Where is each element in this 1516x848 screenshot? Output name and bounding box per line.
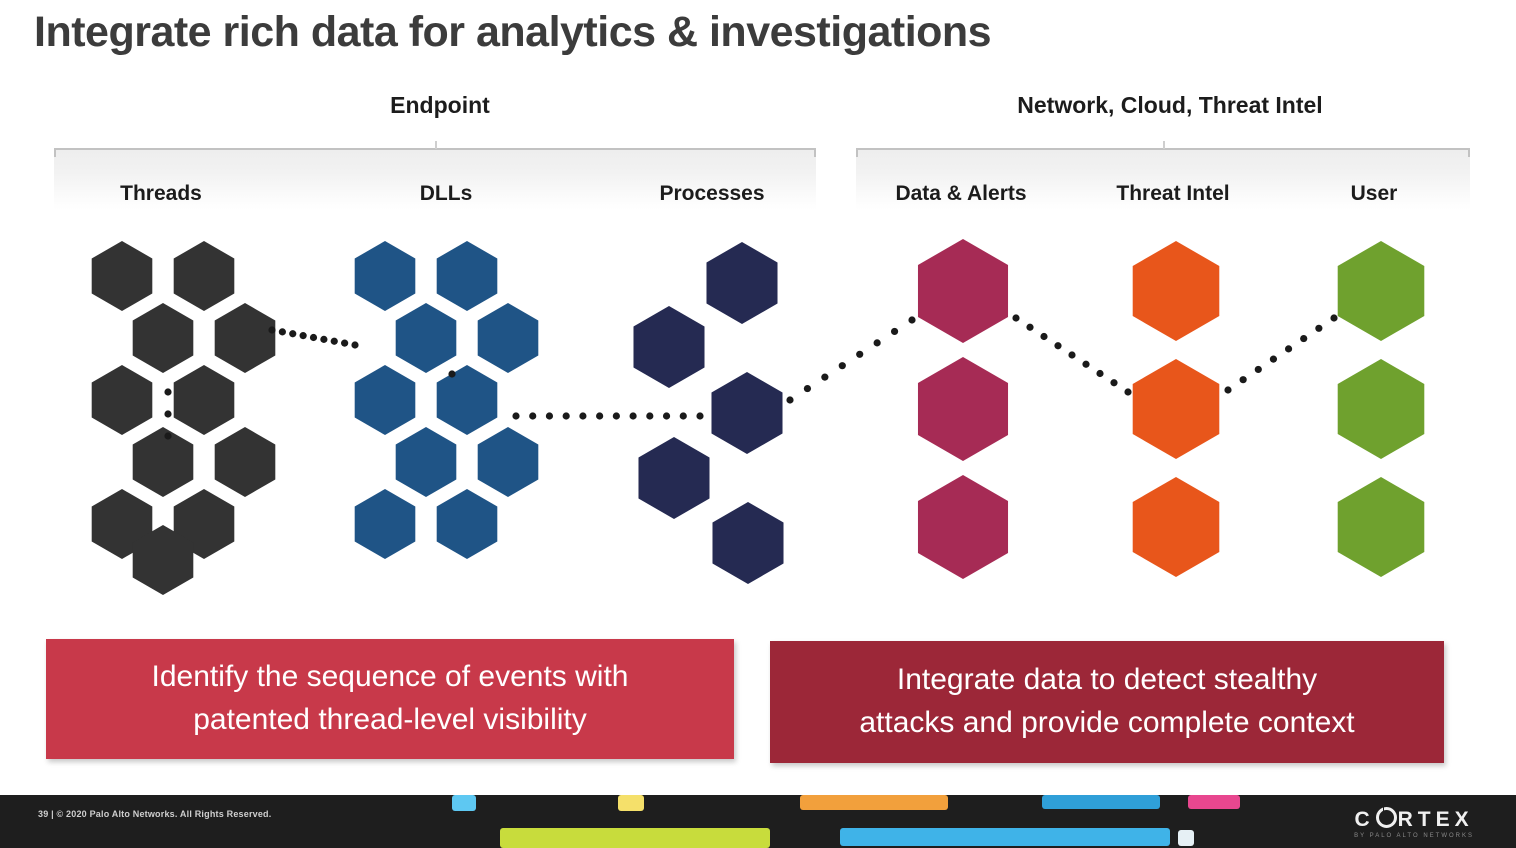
connector-dots-6 xyxy=(1224,314,1337,393)
connector-dot xyxy=(1110,379,1117,386)
connector-dot xyxy=(839,362,846,369)
decorative-bar xyxy=(452,795,476,811)
connector-dot xyxy=(1040,333,1047,340)
connector-dot xyxy=(341,340,348,347)
connector-dot xyxy=(1082,361,1089,368)
connector-dot xyxy=(164,410,171,417)
connector-dot xyxy=(786,396,793,403)
bracket-center-tick-icon xyxy=(435,141,437,149)
group-header-network-cloud-threat-intel: Network, Cloud, Threat Intel xyxy=(960,92,1380,119)
column-label-data-alerts: Data & Alerts xyxy=(866,182,1056,206)
connector-dot xyxy=(629,412,636,419)
connector-dot xyxy=(804,385,811,392)
cortex-letter-c: C xyxy=(1354,808,1374,831)
connector-dots-4 xyxy=(786,316,915,403)
connector-dot xyxy=(563,412,570,419)
hexagon-dlls xyxy=(437,365,498,435)
hexagon-processes xyxy=(706,242,777,324)
connector-dots-3 xyxy=(512,412,703,419)
connector-dot xyxy=(1124,388,1131,395)
hexagon-threads xyxy=(133,303,194,373)
callout-right-line2: attacks and provide complete context xyxy=(859,702,1354,745)
connector-dot xyxy=(579,412,586,419)
footer-bar: 39 | © 2020 Palo Alto Networks. All Righ… xyxy=(0,795,1516,848)
decorative-bar xyxy=(618,795,644,811)
hexagon-threat-intel xyxy=(1133,241,1220,341)
connector-dot xyxy=(300,332,307,339)
footer-copyright: 39 | © 2020 Palo Alto Networks. All Righ… xyxy=(38,809,271,819)
connector-dot xyxy=(1270,356,1277,363)
connector-dot xyxy=(529,412,536,419)
hexagon-dlls xyxy=(355,489,416,559)
hex-cluster-data-alerts xyxy=(918,239,1008,579)
connector-dot xyxy=(1315,325,1322,332)
cortex-logo: CRTEX BY PALO ALTO NETWORKS xyxy=(1354,805,1474,839)
connector-dots-1 xyxy=(268,326,358,348)
connector-dot xyxy=(596,412,603,419)
decorative-bar xyxy=(800,795,948,810)
connector-dot xyxy=(164,432,171,439)
hexagon-dlls xyxy=(478,427,539,497)
connector-dot xyxy=(856,351,863,358)
callout-right: Integrate data to detect stealthy attack… xyxy=(770,641,1444,763)
hexagon-threads xyxy=(92,365,153,435)
hexagon-processes xyxy=(638,437,709,519)
callout-right-line1: Integrate data to detect stealthy xyxy=(859,659,1354,702)
hexagon-threat-intel xyxy=(1133,359,1220,459)
connector-dot xyxy=(512,412,519,419)
connector-dots-0 xyxy=(164,388,171,439)
callout-left-line2: patented thread-level visibility xyxy=(152,699,629,742)
hexagon-data-alerts xyxy=(918,239,1008,343)
hex-cluster-user xyxy=(1338,241,1425,577)
hexagon-processes xyxy=(633,306,704,388)
callout-left: Identify the sequence of events with pat… xyxy=(46,639,734,759)
connector-dot xyxy=(908,316,915,323)
hexagon-processes xyxy=(711,372,782,454)
decorative-bar xyxy=(1042,795,1160,809)
connector-dot xyxy=(1026,324,1033,331)
connector-dot xyxy=(613,412,620,419)
connector-dots-5 xyxy=(1012,314,1131,395)
hexagon-dlls xyxy=(396,427,457,497)
slide-canvas: Integrate rich data for analytics & inve… xyxy=(0,0,1516,848)
decorative-bar xyxy=(840,828,1170,846)
hexagon-dlls xyxy=(437,489,498,559)
connector-dot xyxy=(268,326,275,333)
hexagon-dlls xyxy=(355,241,416,311)
hexagon-processes xyxy=(712,502,783,584)
hexagon-dlls xyxy=(437,241,498,311)
connector-dot xyxy=(164,388,171,395)
connector-dot xyxy=(663,412,670,419)
connector-dot xyxy=(1255,366,1262,373)
callout-left-line1: Identify the sequence of events with xyxy=(152,656,629,699)
hexagon-threads xyxy=(215,427,276,497)
hexagon-user xyxy=(1338,241,1425,341)
connector-dot xyxy=(1096,370,1103,377)
hexagon-dlls xyxy=(355,365,416,435)
hexagon-threat-intel xyxy=(1133,477,1220,577)
cortex-tagline: BY PALO ALTO NETWORKS xyxy=(1354,833,1474,839)
hexagon-threads xyxy=(174,241,235,311)
connector-dot xyxy=(874,339,881,346)
hexagon-threads xyxy=(92,241,153,311)
hexagon-data-alerts xyxy=(918,357,1008,461)
cortex-ring-icon xyxy=(1376,807,1397,828)
group-header-endpoint: Endpoint xyxy=(270,92,610,119)
connector-dot xyxy=(1330,314,1337,321)
bracket-center-tick-icon xyxy=(1163,141,1165,149)
hexagon-threads xyxy=(92,489,153,559)
hexagon-threads xyxy=(174,489,235,559)
connector-dots-2 xyxy=(448,370,455,377)
connector-dot xyxy=(310,334,317,341)
decorative-bar xyxy=(1188,795,1240,809)
connector-dot xyxy=(680,412,687,419)
hexagon-threads xyxy=(174,365,235,435)
column-label-threads: Threads xyxy=(68,182,254,206)
connector-dot xyxy=(1285,345,1292,352)
cortex-wordmark: CRTEX xyxy=(1354,805,1474,832)
connector-dot xyxy=(331,338,338,345)
connector-dot xyxy=(351,341,358,348)
hexagon-threads xyxy=(133,427,194,497)
hex-cluster-processes xyxy=(633,242,783,584)
column-label-user: User xyxy=(1290,182,1458,206)
connector-dot xyxy=(1240,376,1247,383)
connector-dot xyxy=(1300,335,1307,342)
connector-dot xyxy=(289,330,296,337)
hexagon-user xyxy=(1338,359,1425,459)
connector-dot xyxy=(448,370,455,377)
connector-dot xyxy=(821,374,828,381)
cortex-letters-rtex: RTEX xyxy=(1398,808,1474,831)
column-label-threat-intel: Threat Intel xyxy=(1080,182,1266,206)
connector-dot xyxy=(891,328,898,335)
connector-dot xyxy=(1012,314,1019,321)
hexagon-data-alerts xyxy=(918,475,1008,579)
connector-dot xyxy=(279,328,286,335)
hexagon-dlls xyxy=(478,303,539,373)
decorative-bar xyxy=(1178,830,1194,846)
connector-dot xyxy=(696,412,703,419)
connector-dot xyxy=(646,412,653,419)
connector-dot xyxy=(1054,342,1061,349)
decorative-bar xyxy=(500,828,770,848)
column-label-processes: Processes xyxy=(622,182,802,206)
connector-dot xyxy=(1224,386,1231,393)
hex-cluster-threads xyxy=(92,241,276,595)
column-label-dlls: DLLs xyxy=(356,182,536,206)
hexagon-user xyxy=(1338,477,1425,577)
hexagon-dlls xyxy=(396,303,457,373)
hexagon-threads xyxy=(133,525,194,595)
connector-dot xyxy=(546,412,553,419)
hex-cluster-threat-intel xyxy=(1133,241,1220,577)
hex-cluster-dlls xyxy=(355,241,539,559)
page-title: Integrate rich data for analytics & inve… xyxy=(34,8,991,57)
connector-dot xyxy=(320,336,327,343)
hexagon-threads xyxy=(215,303,276,373)
connector-dot xyxy=(1068,351,1075,358)
